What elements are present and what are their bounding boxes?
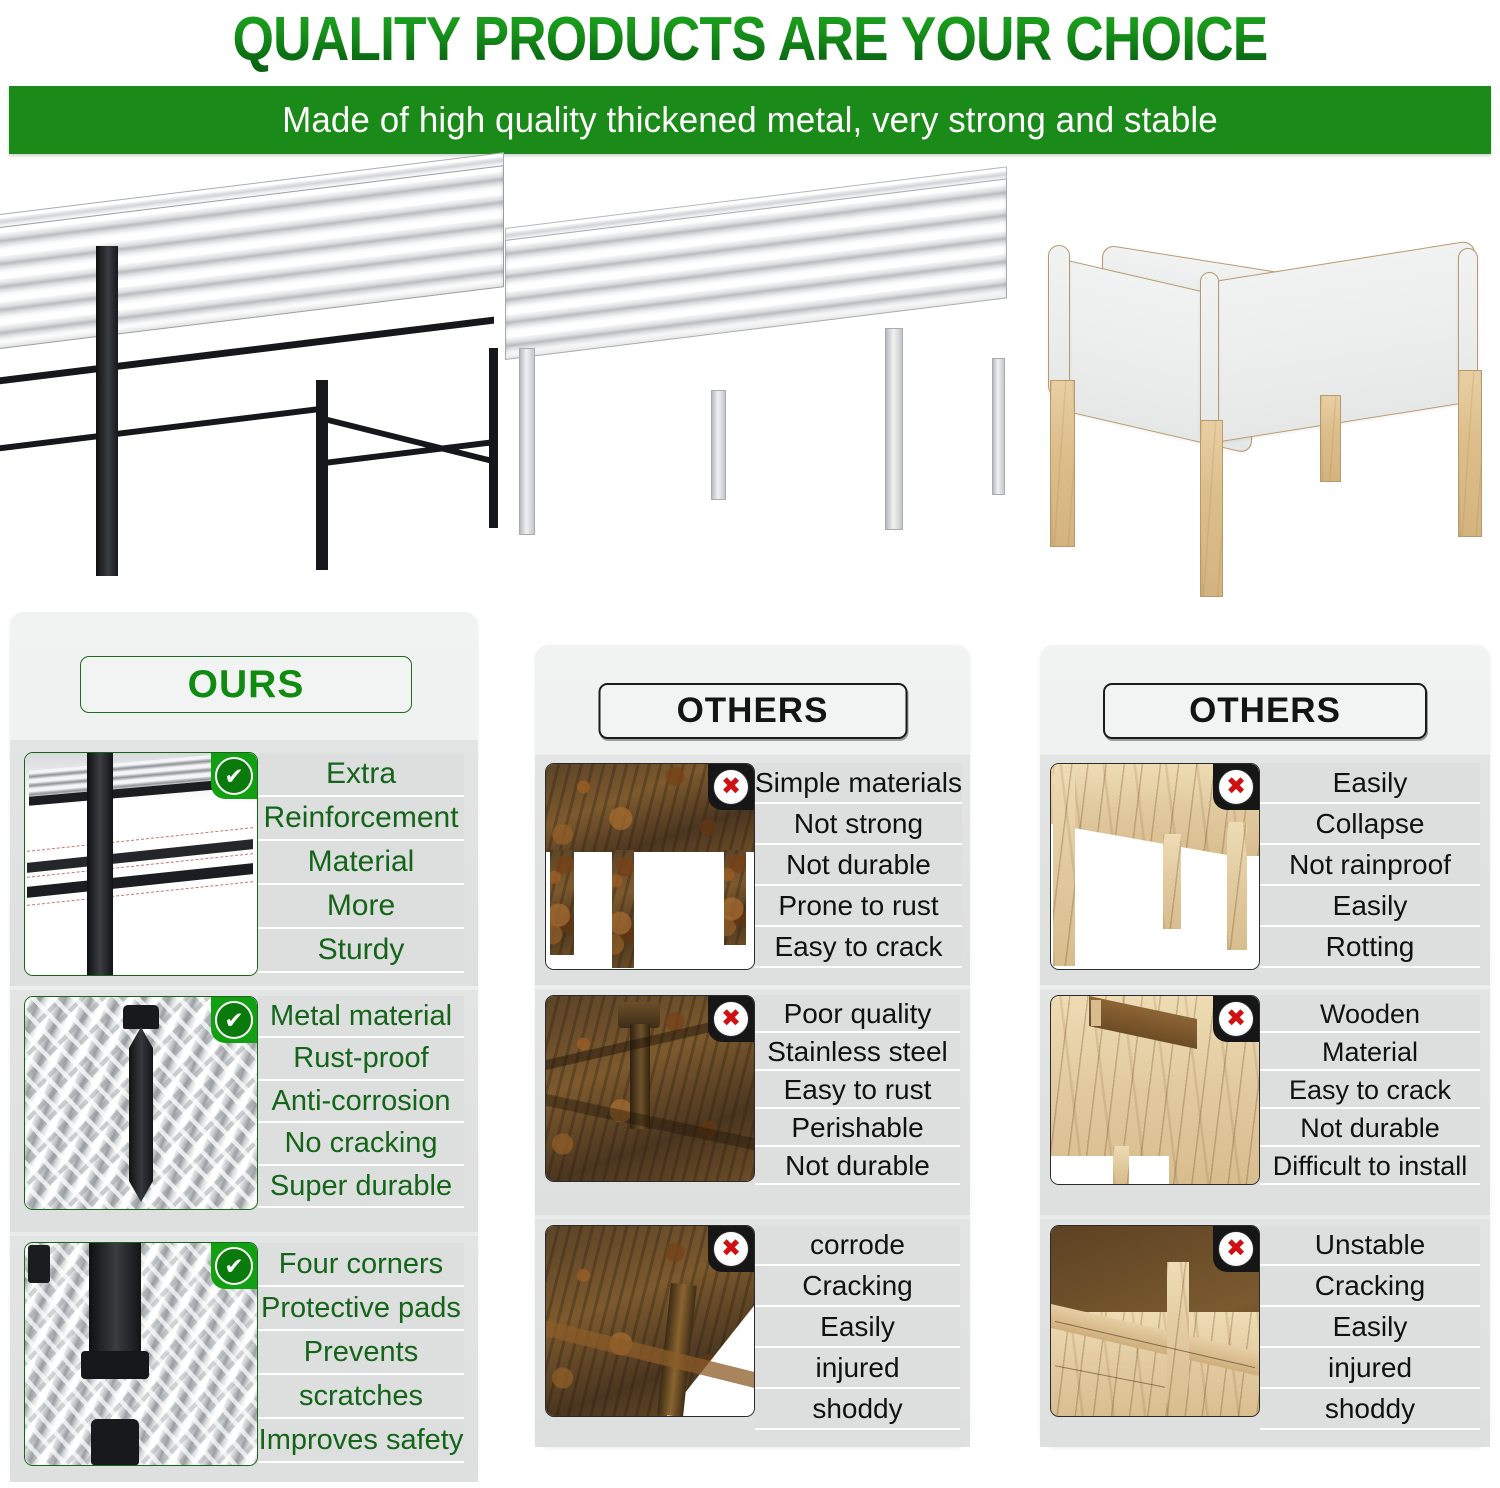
feature-text: Sturdy (258, 929, 464, 973)
feature-text: Poor quality (755, 995, 960, 1033)
feature-text: Easily (1260, 1307, 1480, 1348)
others-wood-thumb-3: ✖ (1050, 1225, 1260, 1417)
feature-text: Easy to crack (1260, 1071, 1480, 1109)
feature-text: Prevents (258, 1331, 464, 1375)
feature-text: Anti-corrosion (258, 1081, 464, 1123)
product-image-metal-black-legs (0, 228, 512, 558)
feature-text: Four corners (258, 1243, 464, 1287)
cross-icon: ✖ (1213, 996, 1259, 1042)
others-wood-feature-row-2: ✖ Wooden Material Easy to crack Not dura… (1040, 995, 1490, 1207)
feature-text: Prone to rust (755, 886, 962, 927)
ours-feature-list-2: Metal material Rust-proof Anti-corrosion… (258, 996, 464, 1208)
feature-text: Extra (258, 753, 464, 797)
feature-text: Super durable (258, 1166, 464, 1208)
feature-text: Easily (1260, 886, 1480, 927)
cross-icon: ✖ (1213, 764, 1259, 810)
feature-text: Not durable (1260, 1109, 1480, 1147)
check-icon: ✔ (211, 997, 257, 1043)
feature-text: Easy to rust (755, 1071, 960, 1109)
check-icon: ✔ (211, 1243, 257, 1289)
feature-text: No cracking (258, 1123, 464, 1165)
ours-feature-list-3: Four corners Protective pads Prevents sc… (258, 1242, 464, 1464)
others-wood-feature-row-1: ✖ Easily Collapse Not rainproof Easily R… (1040, 763, 1490, 975)
feature-text: injured (1260, 1348, 1480, 1389)
subtitle-text: Made of high quality thickened metal, ve… (31, 86, 1469, 154)
others-wood-feature-list-3: Unstable Cracking Easily injured shoddy (1260, 1225, 1480, 1430)
ours-feature-row-3: ✔ Four corners Protective pads Prevents … (10, 1242, 478, 1464)
others-wood-feature-row-3: ✖ Unstable Cracking Easily injured shodd… (1040, 1225, 1490, 1437)
others-metal-thumb-1: ✖ (545, 763, 755, 970)
feature-text: Perishable (755, 1109, 960, 1147)
feature-text: injured (755, 1348, 960, 1389)
others-metal-feature-row-2: ✖ Poor quality Stainless steel Easy to r… (535, 995, 970, 1207)
feature-text: Cracking (755, 1266, 960, 1307)
feature-text: shoddy (755, 1389, 960, 1430)
others-wood-feature-list-2: Wooden Material Easy to crack Not durabl… (1260, 995, 1480, 1185)
feature-text: Improves safety (258, 1419, 464, 1463)
check-icon: ✔ (211, 753, 257, 799)
cross-icon: ✖ (708, 1226, 754, 1272)
feature-text: Collapse (1260, 804, 1480, 845)
product-image-wooden-planter (1030, 210, 1500, 610)
others-metal-thumb-2: ✖ (545, 995, 755, 1182)
feature-text: Not durable (755, 1147, 960, 1185)
comparison-panel-others-wood: OTHERS ✖ Easily Collapse Not rainproof E… (1040, 645, 1490, 1447)
feature-text: Stainless steel (755, 1033, 960, 1071)
ours-feature-row-1: ✔ Extra Reinforcement Material More Stur… (10, 752, 478, 974)
feature-text: Easy to crack (755, 927, 962, 968)
others-metal-feature-list-2: Poor quality Stainless steel Easy to rus… (755, 995, 960, 1185)
feature-text: Not rainproof (1260, 845, 1480, 886)
feature-text: Material (1260, 1033, 1480, 1071)
feature-text: Unstable (1260, 1225, 1480, 1266)
ours-thumb-3: ✔ (24, 1242, 258, 1466)
feature-text: Easily (1260, 763, 1480, 804)
feature-text: Difficult to install (1260, 1147, 1480, 1185)
feature-text: scratches (258, 1375, 464, 1419)
others-metal-thumb-3: ✖ (545, 1225, 755, 1417)
cross-icon: ✖ (1213, 1226, 1259, 1272)
feature-text: Reinforcement (258, 797, 464, 841)
feature-text: Wooden (1260, 995, 1480, 1033)
ours-feature-row-2: ✔ Metal material Rust-proof Anti-corrosi… (10, 996, 478, 1218)
others-wood-feature-list-1: Easily Collapse Not rainproof Easily Rot… (1260, 763, 1480, 968)
feature-text: Material (258, 841, 464, 885)
ours-thumb-2: ✔ (24, 996, 258, 1210)
others-metal-feature-list-1: Simple materials Not strong Not durable … (755, 763, 962, 968)
cross-icon: ✖ (708, 764, 754, 810)
panel-label-ours: OURS (80, 656, 412, 713)
feature-text: Simple materials (755, 763, 962, 804)
panel-label-others-metal: OTHERS (598, 683, 907, 739)
others-metal-feature-list-3: corrode Cracking Easily injured shoddy (755, 1225, 960, 1430)
others-wood-thumb-2: ✖ (1050, 995, 1260, 1185)
others-wood-thumb-1: ✖ (1050, 763, 1260, 970)
ours-thumb-1: ✔ (24, 752, 258, 976)
cross-icon: ✖ (708, 996, 754, 1042)
others-metal-feature-row-1: ✖ Simple materials Not strong Not durabl… (535, 763, 970, 975)
product-image-metal-silver-legs (505, 240, 1025, 560)
page-title: QUALITY PRODUCTS ARE YOUR CHOICE (105, 4, 1395, 76)
feature-text: Cracking (1260, 1266, 1480, 1307)
feature-text: More (258, 885, 464, 929)
panel-label-others-wood: OTHERS (1103, 683, 1427, 739)
feature-text: Not durable (755, 845, 962, 886)
feature-text: corrode (755, 1225, 960, 1266)
others-metal-feature-row-3: ✖ corrode Cracking Easily injured shoddy (535, 1225, 970, 1437)
feature-text: Metal material (258, 996, 464, 1038)
subtitle-banner: Made of high quality thickened metal, ve… (9, 86, 1491, 154)
hero-product-row (0, 200, 1500, 620)
comparison-panel-ours: OURS ✔ Extra Reinforcement Material More… (10, 612, 478, 1478)
ours-feature-list-1: Extra Reinforcement Material More Sturdy (258, 752, 464, 974)
feature-text: Easily (755, 1307, 960, 1348)
feature-text: Rust-proof (258, 1038, 464, 1080)
feature-text: Rotting (1260, 927, 1480, 968)
feature-text: Protective pads (258, 1287, 464, 1331)
feature-text: shoddy (1260, 1389, 1480, 1430)
comparison-panel-others-metal: OTHERS ✖ Simple materials Not strong Not… (535, 645, 970, 1447)
feature-text: Not strong (755, 804, 962, 845)
